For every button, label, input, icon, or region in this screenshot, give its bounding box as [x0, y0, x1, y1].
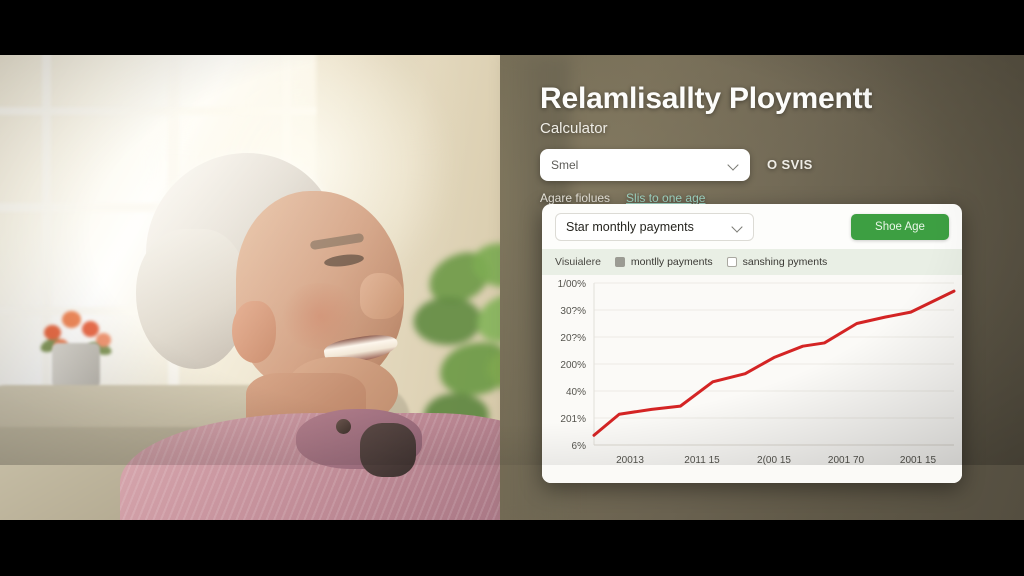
y-tick-labels: 1/00%30?%20?%200%40%201%6% — [558, 279, 586, 452]
legend-label: sanshing pyments — [743, 256, 828, 268]
hero-side-note: O SVIS — [767, 157, 813, 172]
chart-svg: 1/00%30?%20?%200%40%201%6% 200132011 152… — [542, 275, 962, 483]
x-tick-label: 2011 15 — [684, 455, 720, 466]
chevron-down-icon — [728, 159, 739, 170]
helper-text: Agare fiolues — [540, 191, 610, 205]
chart-mode-value: Star monthly payments — [566, 220, 732, 234]
x-tick-label: 2001 70 — [828, 455, 865, 466]
checkbox-unchecked-icon[interactable] — [727, 257, 737, 267]
checkbox-checked-icon[interactable] — [615, 257, 625, 267]
y-tick-label: 200% — [560, 360, 586, 371]
legend-item-sanshing[interactable]: sanshing pyments — [727, 256, 828, 268]
series-line — [594, 291, 954, 435]
y-tick-label: 40% — [566, 387, 586, 398]
hero-dropdown[interactable]: Smel — [540, 149, 750, 181]
chevron-down-icon — [732, 221, 743, 232]
legend-item-monthly[interactable]: montlly payments — [615, 256, 713, 268]
hero-select-row: Smel O SVIS — [540, 149, 1010, 181]
hero-dropdown-value: Smel — [551, 158, 728, 172]
letterbox-top — [0, 0, 1024, 55]
page-title: Relamlisallty Ploymentt — [540, 83, 1010, 115]
x-tick-label: 20013 — [616, 455, 644, 466]
chart-legend: Visuialere montlly payments sanshing pym… — [542, 249, 962, 275]
card-toolbar: Star monthly payments Shoe Age — [542, 204, 962, 249]
photo-highlight — [0, 55, 548, 520]
chart-mode-dropdown[interactable]: Star monthly payments — [555, 213, 754, 241]
y-tick-label: 20?% — [560, 333, 586, 344]
x-tick-labels: 200132011 152(00 152001 702001 15 — [616, 455, 936, 466]
x-tick-label: 2001 15 — [900, 455, 937, 466]
y-tick-label: 201% — [560, 414, 586, 425]
chart-card: Star monthly payments Shoe Age Visuialer… — [542, 204, 962, 483]
chart-gridlines — [594, 283, 954, 418]
y-tick-label: 6% — [572, 441, 587, 452]
hero-helper-row: Agare fiolues Slis to one age — [540, 191, 1010, 205]
line-chart[interactable]: 1/00%30?%20?%200%40%201%6% 200132011 152… — [542, 275, 962, 483]
background-photo — [0, 55, 548, 520]
page-subtitle: Calculator — [540, 120, 1010, 137]
legend-title: Visuialere — [555, 256, 601, 268]
x-tick-label: 2(00 15 — [757, 455, 791, 466]
header-block: Relamlisallty Ploymentt Calculator Smel … — [540, 83, 1010, 205]
helper-link[interactable]: Slis to one age — [626, 191, 705, 205]
show-age-button[interactable]: Shoe Age — [851, 214, 949, 240]
y-tick-label: 30?% — [560, 306, 586, 317]
y-tick-label: 1/00% — [558, 279, 586, 290]
content-band: Relamlisallty Ploymentt Calculator Smel … — [0, 55, 1024, 520]
screenshot-stage: Relamlisallty Ploymentt Calculator Smel … — [0, 0, 1024, 576]
letterbox-bottom — [0, 520, 1024, 576]
legend-label: montlly payments — [631, 256, 713, 268]
